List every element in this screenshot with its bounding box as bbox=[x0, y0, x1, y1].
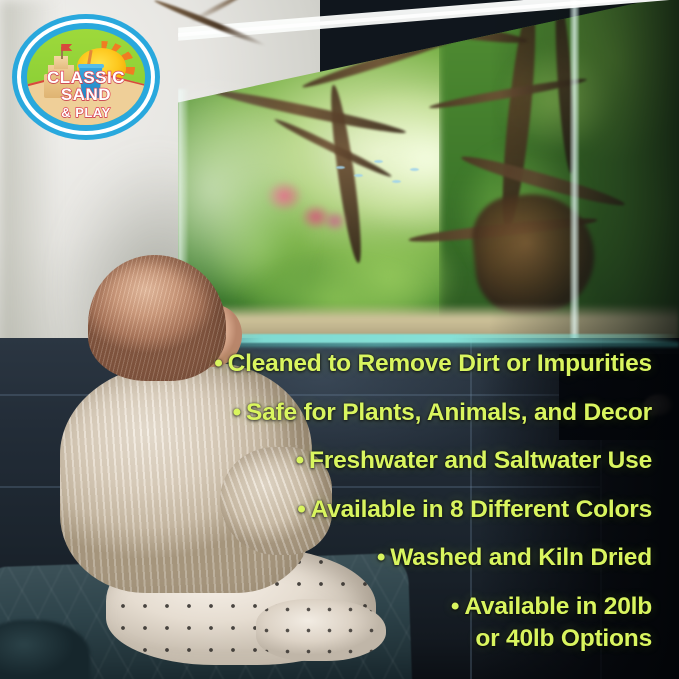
feature-bullet: •Available in 20lb bbox=[200, 595, 652, 620]
feature-bullet-text: Available in 8 Different Colors bbox=[311, 496, 652, 523]
feature-bullet: •Available in 8 Different Colors bbox=[200, 498, 652, 523]
bullet-dot-icon: • bbox=[377, 544, 385, 571]
aquarium-glass-seam bbox=[570, 0, 579, 344]
feature-bullet-list: •Cleaned to Remove Dirt or Impurities •S… bbox=[200, 352, 652, 676]
logo-brand-line-2: & PLAY bbox=[27, 106, 145, 119]
feature-bullet: •Freshwater and Saltwater Use bbox=[200, 449, 652, 474]
logo-brand-line-1: CLASSIC SAND bbox=[27, 69, 145, 103]
product-marketing-image: CLASSIC SAND & PLAY •Cleaned to Remove D… bbox=[0, 0, 679, 679]
logo-face: CLASSIC SAND & PLAY bbox=[27, 29, 145, 125]
bullet-dot-icon: • bbox=[214, 350, 222, 377]
bullet-dot-icon: • bbox=[233, 399, 241, 426]
aquarium-right-vignette bbox=[489, 0, 679, 344]
feature-bullet: •Safe for Plants, Animals, and Decor bbox=[200, 401, 652, 426]
bullet-dot-icon: • bbox=[297, 496, 305, 523]
feature-bullet: •Washed and Kiln Dried bbox=[200, 546, 652, 571]
feature-bullet: •Cleaned to Remove Dirt or Impurities bbox=[200, 352, 652, 377]
feature-bullet-continuation: or 40lb Options bbox=[200, 627, 652, 652]
bullet-dot-icon: • bbox=[296, 447, 304, 474]
feature-bullet-text: Available in 20lb bbox=[464, 593, 652, 620]
feature-bullet-text: Cleaned to Remove Dirt or Impurities bbox=[228, 350, 652, 377]
feature-bullet-text: Freshwater and Saltwater Use bbox=[309, 447, 652, 474]
brand-logo: CLASSIC SAND & PLAY bbox=[12, 14, 160, 140]
flag-icon bbox=[61, 44, 72, 51]
logo-wordmark: CLASSIC SAND & PLAY bbox=[27, 69, 145, 119]
feature-bullet-text: Safe for Plants, Animals, and Decor bbox=[246, 399, 652, 426]
feature-bullet-text: Washed and Kiln Dried bbox=[390, 544, 652, 571]
fish bbox=[392, 180, 401, 183]
fish bbox=[410, 168, 419, 171]
bullet-dot-icon: • bbox=[451, 593, 459, 620]
